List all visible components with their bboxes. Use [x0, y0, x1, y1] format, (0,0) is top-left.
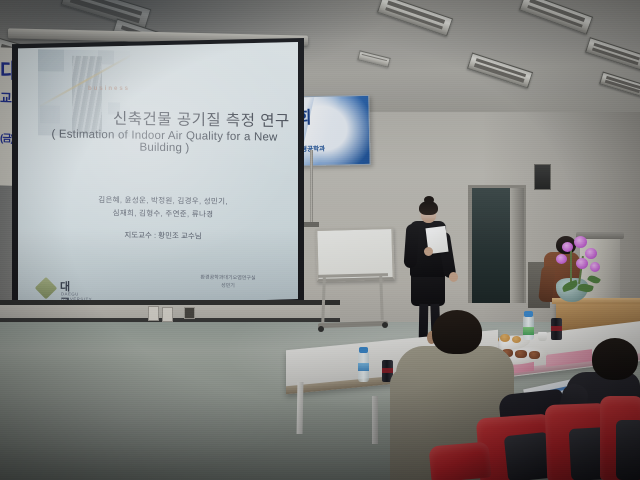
auditorium-seat-armrest [616, 420, 640, 480]
audience-reader-head [592, 338, 638, 380]
wall-outlet [148, 306, 159, 321]
slide-advisor: 지도교수 : 황민조 교수님 [38, 228, 288, 242]
wall-outlet [184, 307, 195, 319]
orchid-flower-icon [590, 262, 600, 272]
whiteboard-caster [382, 322, 388, 328]
slide-template-word: business [88, 86, 130, 92]
presenter-hair-bun [424, 196, 434, 204]
food-item [500, 334, 510, 342]
paper-cup [538, 332, 547, 341]
speaker-icon [534, 164, 551, 190]
orchid-flower-icon [556, 254, 567, 264]
presenter-skirt [411, 272, 445, 306]
water-bottle [523, 316, 534, 340]
food-item [512, 336, 521, 343]
front-table-leg [297, 382, 304, 434]
whiteboard-caster [318, 326, 324, 332]
wall-outlet [162, 307, 173, 322]
bottle-label [358, 363, 369, 371]
orchid-flower-icon [585, 248, 597, 259]
bottle-label [523, 327, 534, 335]
orchid-flower-icon [562, 242, 573, 252]
presenter-hand [424, 247, 433, 256]
orchid-flower-icon [576, 258, 588, 269]
open-doorway[interactable] [472, 188, 514, 303]
can-band [551, 326, 562, 331]
beverage-can [551, 318, 562, 340]
bottle-cap [359, 347, 368, 353]
auditorium-seat[interactable] [429, 441, 492, 480]
food-item [529, 351, 540, 359]
audience-person-arm [390, 368, 420, 480]
slide-authors: 김은혜, 윤성운, 박정원, 김경우, 성민기, 심재희, 김형수, 주연준, … [38, 192, 288, 221]
banner-left-char3: (금) [0, 129, 13, 144]
stage-edge [0, 300, 340, 305]
door-leaf[interactable] [510, 188, 524, 303]
slide-subtitle: ( Estimation of Indoor Air Quality for a… [32, 128, 297, 156]
banner-left-char2: 교 [0, 87, 11, 106]
slide-building-photo [72, 56, 102, 135]
slide-department-line2: 성민기 [168, 281, 288, 291]
slide-department: 환경공학과대기오염연구실 성민기 [168, 273, 288, 291]
audience-person-head [432, 310, 482, 354]
logo-diamond-icon [35, 277, 58, 300]
banner-rod-foot [304, 222, 319, 227]
slide-authors-line2: 심재희, 김형수, 주연준, 류나경 [38, 205, 288, 221]
water-bottle [358, 352, 369, 382]
slide-title: 신축건물 공기질 측정 연구 [113, 107, 298, 132]
presentation-room-photo: 대 교 (금) 발표회 표회 구대학교 환경공학과 business 신축건물 … [0, 0, 640, 480]
bottle-cap [524, 311, 533, 317]
food-item [515, 350, 527, 358]
banner-support-rod [310, 150, 313, 224]
projection-screen: business 신축건물 공기질 측정 연구 ( Estimation of … [18, 42, 298, 308]
orchid-flower-icon [574, 236, 587, 248]
front-table-leg [372, 396, 378, 444]
plant-stem [570, 248, 572, 282]
can-band [382, 368, 393, 373]
